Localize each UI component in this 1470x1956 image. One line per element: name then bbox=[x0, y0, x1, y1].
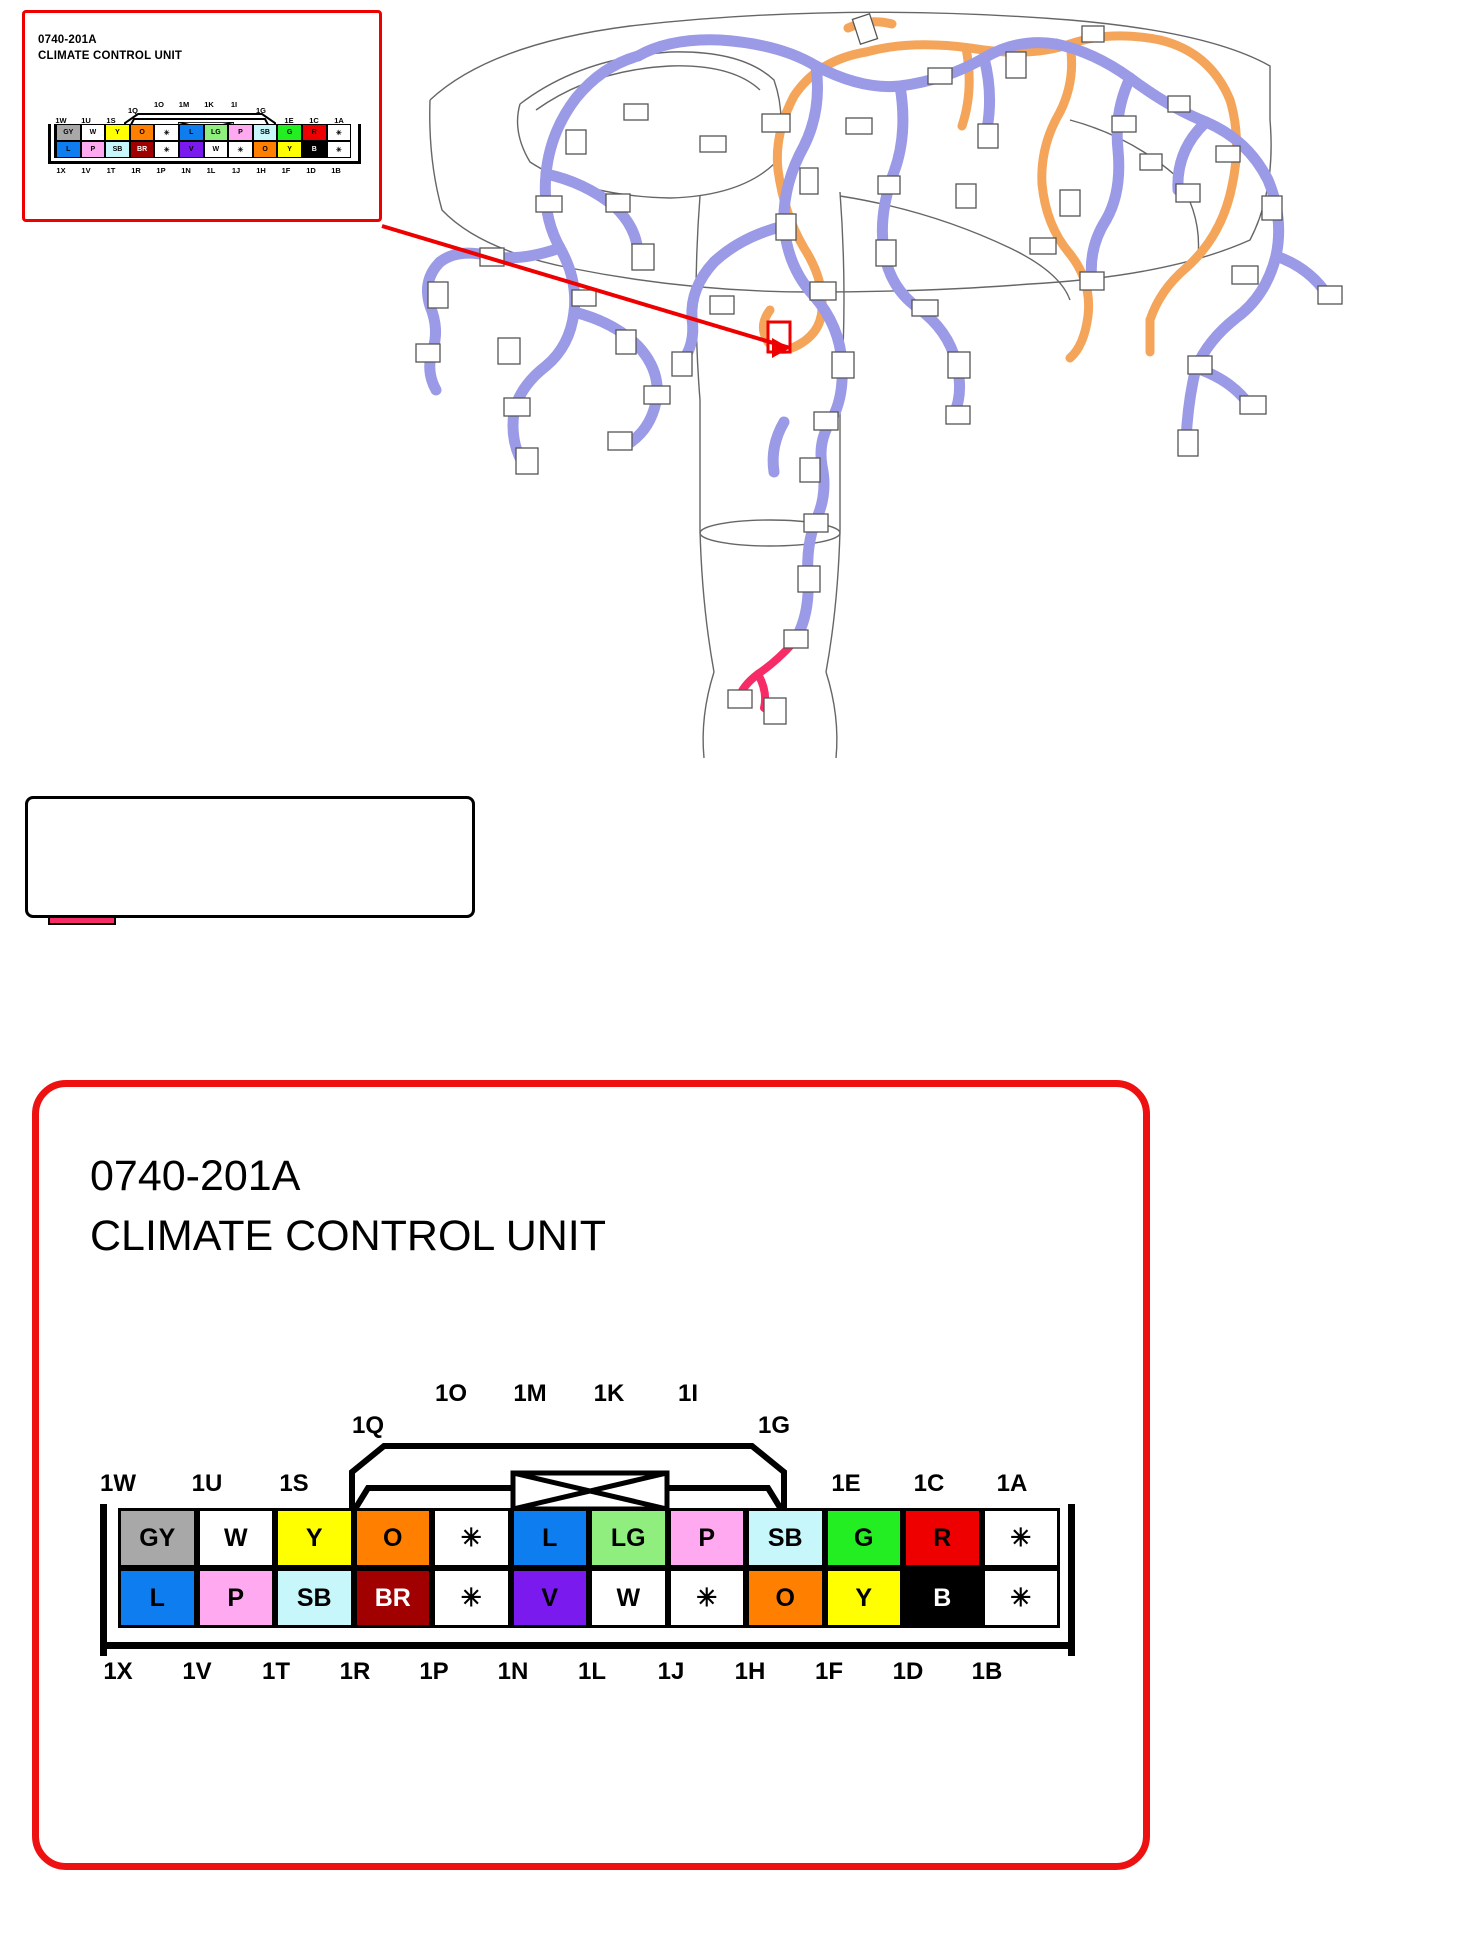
inset-code: 0740-201A bbox=[38, 32, 182, 48]
detail-pin-grid: GYWYO✳LLGPSBGR✳ LPSBBR✳VW✳OYB✳ bbox=[118, 1508, 1060, 1628]
detail-bottom-label-1H: 1H bbox=[714, 1658, 786, 1686]
inset-title-block: 0740-201A CLIMATE CONTROL UNIT bbox=[38, 32, 182, 64]
inset-connector-pinout: 1Q 1O 1M 1K 1I 1G 1W 1U 1S 1E 1C 1A GYWY… bbox=[40, 100, 370, 200]
detail-top-label-1E: 1E bbox=[810, 1470, 882, 1498]
detail-top-label-1W: 1W bbox=[82, 1470, 154, 1498]
inset-bottom-label-1F: 1F bbox=[275, 166, 297, 175]
inset-pin-cell-1G: SB bbox=[253, 124, 278, 141]
inset-pin-cell-1E: G bbox=[277, 124, 302, 141]
inset-bottom-label-1L: 1L bbox=[200, 166, 222, 175]
inset-pin-cell-1S: Y bbox=[105, 124, 130, 141]
detail-bottom-label-1L: 1L bbox=[556, 1658, 628, 1686]
inset-bottom-label-1B: 1B bbox=[325, 166, 347, 175]
inset-left-rail bbox=[48, 124, 51, 164]
detail-pin-row-bottom: LPSBBR✳VW✳OYB✳ bbox=[118, 1568, 1060, 1628]
inset-pin-cell-1I: P bbox=[228, 124, 253, 141]
detail-pin-cell-1V: P bbox=[197, 1568, 276, 1628]
detail-pin-cell-1M: L bbox=[511, 1508, 590, 1568]
detail-bottom-label-1N: 1N bbox=[477, 1658, 549, 1686]
inset-pin-cell-1B: ✳ bbox=[327, 141, 352, 158]
inset-pin-cell-1N: V bbox=[179, 141, 204, 158]
detail-bottom-label-1X: 1X bbox=[82, 1658, 154, 1686]
inset-bottom-label-1J: 1J bbox=[225, 166, 247, 175]
detail-bottom-label-1R: 1R bbox=[319, 1658, 391, 1686]
inset-bottom-label-1X: 1X bbox=[50, 166, 72, 175]
detail-pin-cell-1N: V bbox=[511, 1568, 590, 1628]
inset-bottom-label-1R: 1R bbox=[125, 166, 147, 175]
inset-pin-row-bottom: LPSBBR✳VW✳OYB✳ bbox=[56, 141, 351, 158]
inset-bottom-label-1H: 1H bbox=[250, 166, 272, 175]
detail-pin-cell-1I: P bbox=[668, 1508, 747, 1568]
detail-pin-cell-1K: LG bbox=[589, 1508, 668, 1568]
inset-pin-cell-1F: Y bbox=[277, 141, 302, 158]
detail-bottom-label-1T: 1T bbox=[240, 1658, 312, 1686]
inset-pin-cell-1Q: O bbox=[130, 124, 155, 141]
detail-pin-cell-1F: Y bbox=[825, 1568, 904, 1628]
detail-top-label-1K: 1K bbox=[573, 1380, 645, 1408]
detail-left-rail bbox=[100, 1504, 107, 1656]
inset-pin-cell-1P: ✳ bbox=[154, 141, 179, 158]
detail-pin-cell-1C: R bbox=[903, 1508, 982, 1568]
detail-pin-cell-1R: BR bbox=[354, 1568, 433, 1628]
detail-connector-pinout: 1Q 1O 1M 1K 1I 1G 1W 1U 1S 1E 1C 1A GYWY… bbox=[88, 1380, 1088, 1700]
inset-pin-cell-1V: P bbox=[81, 141, 106, 158]
inset-top-label-1O: 1O bbox=[148, 100, 170, 109]
detail-top-label-1O: 1O bbox=[415, 1380, 487, 1408]
detail-name: CLIMATE CONTROL UNIT bbox=[90, 1212, 606, 1261]
inset-pin-cell-1L: W bbox=[204, 141, 229, 158]
inset-pin-cell-1C: R bbox=[302, 124, 327, 141]
inset-bottom-label-1V: 1V bbox=[75, 166, 97, 175]
detail-bottom-label-1F: 1F bbox=[793, 1658, 865, 1686]
inset-bottom-label-1P: 1P bbox=[150, 166, 172, 175]
inset-pin-cell-1R: BR bbox=[130, 141, 155, 158]
detail-pin-cell-1B: ✳ bbox=[982, 1568, 1061, 1628]
detail-pin-cell-1S: Y bbox=[275, 1508, 354, 1568]
detail-pin-cell-1D: B bbox=[903, 1568, 982, 1628]
inset-bottom-label-1T: 1T bbox=[100, 166, 122, 175]
detail-top-label-1U: 1U bbox=[171, 1470, 243, 1498]
detail-pin-cell-1J: ✳ bbox=[668, 1568, 747, 1628]
inset-pin-cell-1O: ✳ bbox=[154, 124, 179, 141]
detail-top-label-1A: 1A bbox=[976, 1470, 1048, 1498]
detail-code: 0740-201A bbox=[90, 1152, 300, 1201]
inset-top-label-1M: 1M bbox=[173, 100, 195, 109]
detail-bottom-label-1D: 1D bbox=[872, 1658, 944, 1686]
detail-pin-cell-1E: G bbox=[825, 1508, 904, 1568]
detail-top-label-1I: 1I bbox=[652, 1380, 724, 1408]
detail-pin-cell-1H: O bbox=[746, 1568, 825, 1628]
detail-pin-cell-1A: ✳ bbox=[982, 1508, 1061, 1568]
detail-bottom-label-1J: 1J bbox=[635, 1658, 707, 1686]
inset-right-rail bbox=[358, 124, 361, 164]
inset-pin-cell-1D: B bbox=[302, 141, 327, 158]
inset-pin-cell-1A: ✳ bbox=[327, 124, 352, 141]
inset-pin-grid: GYWYO✳LLGPSBGR✳ LPSBBR✳VW✳OYB✳ bbox=[54, 124, 351, 158]
inset-name: CLIMATE CONTROL UNIT bbox=[38, 48, 182, 64]
detail-top-label-1C: 1C bbox=[893, 1470, 965, 1498]
inset-pin-cell-1T: SB bbox=[105, 141, 130, 158]
inset-pin-cell-1U: W bbox=[81, 124, 106, 141]
detail-top-label-1M: 1M bbox=[494, 1380, 566, 1408]
detail-latch-x-icon bbox=[510, 1470, 670, 1512]
detail-pin-cell-1G: SB bbox=[746, 1508, 825, 1568]
inset-bottom-rail bbox=[48, 161, 361, 164]
detail-pin-cell-1X: L bbox=[118, 1568, 197, 1628]
inset-top-label-1K: 1K bbox=[198, 100, 220, 109]
inset-pin-cell-1H: O bbox=[253, 141, 278, 158]
detail-pin-row-top: GYWYO✳LLGPSBGR✳ bbox=[118, 1508, 1060, 1568]
detail-pin-cell-1Q: O bbox=[354, 1508, 433, 1568]
detail-pin-cell-1T: SB bbox=[275, 1568, 354, 1628]
inset-pin-cell-1K: LG bbox=[204, 124, 229, 141]
detail-pin-cell-1O: ✳ bbox=[432, 1508, 511, 1568]
detail-right-rail bbox=[1068, 1504, 1075, 1656]
detail-pin-cell-1L: W bbox=[589, 1568, 668, 1628]
detail-pin-cell-1W: GY bbox=[118, 1508, 197, 1568]
detail-bottom-label-1B: 1B bbox=[951, 1658, 1023, 1686]
inset-bottom-label-1D: 1D bbox=[300, 166, 322, 175]
detail-pin-cell-1U: W bbox=[197, 1508, 276, 1568]
inset-pin-cell-1M: L bbox=[179, 124, 204, 141]
inset-pin-cell-1J: ✳ bbox=[228, 141, 253, 158]
inset-top-label-1I: 1I bbox=[223, 100, 245, 109]
inset-pin-cell-1X: L bbox=[56, 141, 81, 158]
inset-pin-cell-1W: GY bbox=[56, 124, 81, 141]
detail-top-label-1S: 1S bbox=[258, 1470, 330, 1498]
detail-bottom-label-1V: 1V bbox=[161, 1658, 233, 1686]
inset-pin-row-top: GYWYO✳LLGPSBGR✳ bbox=[56, 124, 351, 141]
detail-bottom-rail bbox=[100, 1642, 1075, 1649]
detail-pin-cell-1P: ✳ bbox=[432, 1568, 511, 1628]
detail-bottom-label-1P: 1P bbox=[398, 1658, 470, 1686]
inset-bottom-label-1N: 1N bbox=[175, 166, 197, 175]
